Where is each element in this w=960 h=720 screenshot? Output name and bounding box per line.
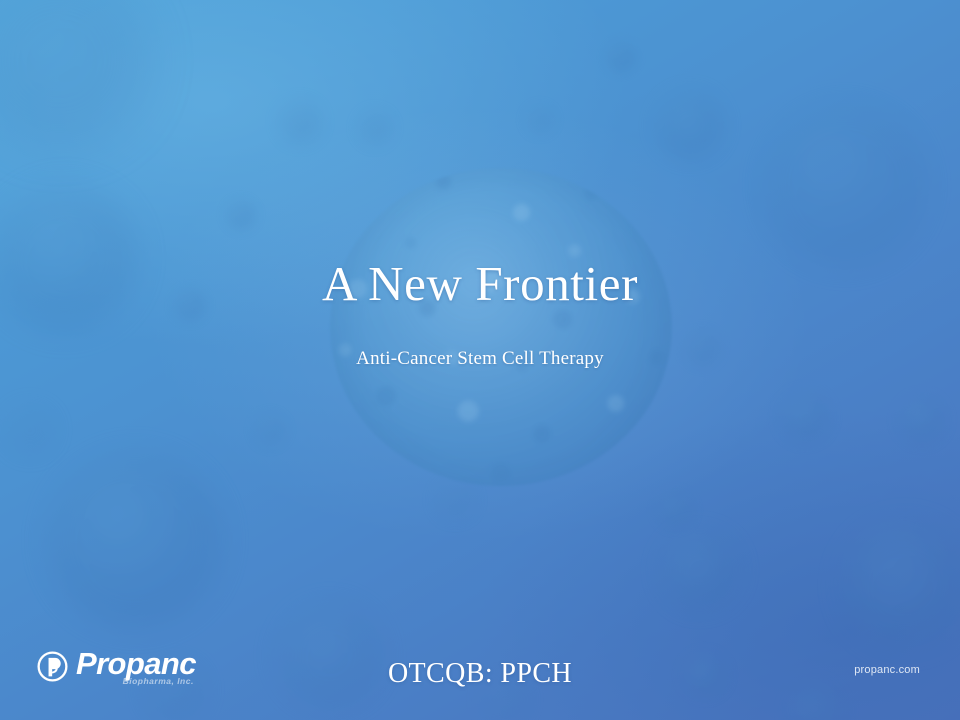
background-cell [47,452,223,628]
logo-tagline: Biopharma, Inc. [123,677,196,686]
background-cell [607,43,635,71]
background-cell [359,112,391,144]
background-cell [901,399,943,441]
background-cell [659,494,691,526]
background-cell [782,394,828,440]
background-cell [278,603,382,707]
logo-wordmark: Propanc [76,648,196,679]
background-cell [6,406,54,454]
website-url-label: propanc.com [854,664,920,676]
background-cell [227,201,255,229]
background-cell [0,0,148,148]
central-cell-sphere [330,168,672,486]
propanc-circle-p-icon [36,650,69,683]
background-cell [843,523,960,647]
presentation-slide: A New Frontier Anti-Cancer Stem Cell The… [0,0,960,720]
background-cell [280,102,320,142]
background-cell [255,415,285,445]
background-cell [527,107,553,133]
background-cell [437,482,473,518]
background-cell [657,92,723,158]
background-cell [763,103,927,267]
page-subtitle: Anti-Cancer Stem Cell Therapy [0,348,960,370]
page-title: A New Frontier [0,258,960,309]
cell-rim-shadow [330,168,672,486]
logo-text-group: Propanc Biopharma, Inc. [76,648,196,686]
background-cell [662,532,738,608]
propanc-logo[interactable]: Propanc Biopharma, Inc. [36,648,196,686]
